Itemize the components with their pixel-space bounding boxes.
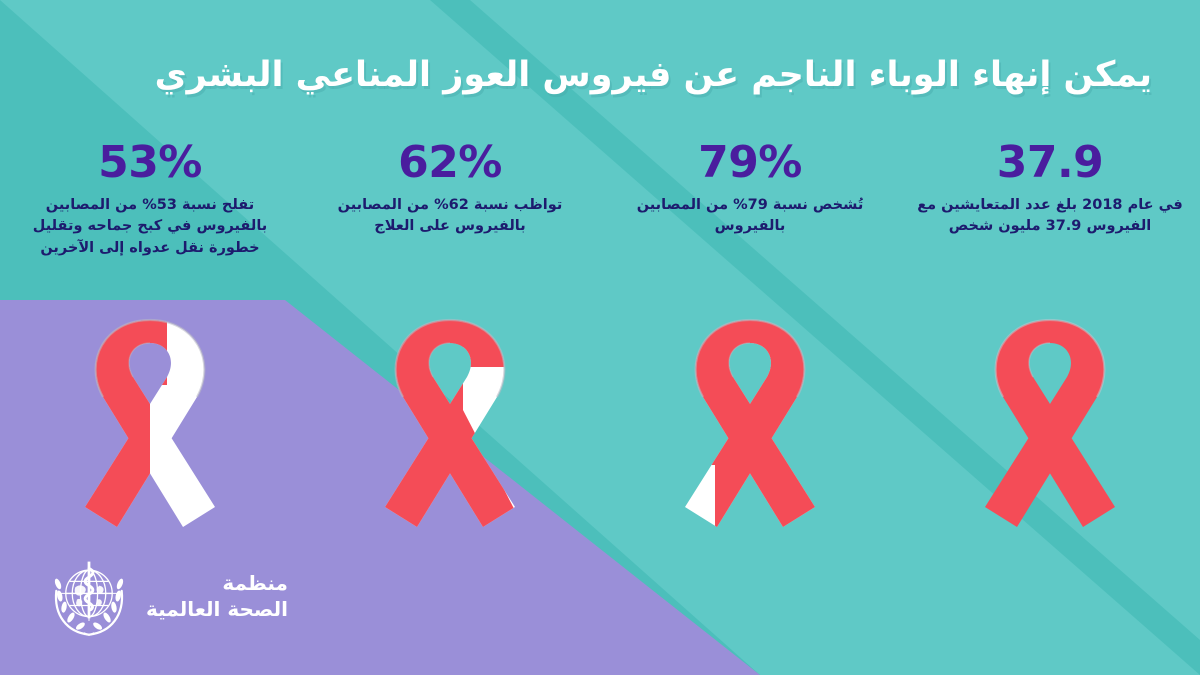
page-title: يمكن إنهاء الوباء الناجم عن فيروس العوز … xyxy=(48,52,1152,98)
who-organization-name: منظمة الصحة العالمية xyxy=(146,570,288,622)
infographic-canvas: يمكن إنهاء الوباء الناجم عن فيروس العوز … xyxy=(0,0,1200,675)
who-logo: منظمة الصحة العالمية xyxy=(46,553,288,639)
ribbon-filled-tail xyxy=(463,410,525,530)
title-container: يمكن إنهاء الوباء الناجم عن فيروس العوز … xyxy=(48,52,1152,98)
stat-value-53: 53% xyxy=(14,140,286,186)
ribbon-filled-top xyxy=(150,315,167,385)
stat-description-53: تفلح نسبة 53% من المصابين بالفيروس في كب… xyxy=(14,195,286,259)
ribbon-cell-62 xyxy=(300,315,600,530)
stat-value-79: 79% xyxy=(614,140,886,186)
stat-description-379: في عام 2018 بلغ عدد المتعايشين مع الفيرو… xyxy=(914,195,1186,238)
ribbon-cell-53 xyxy=(0,315,300,530)
ribbon-fill-group xyxy=(975,315,1125,530)
ribbon-fill-group xyxy=(75,315,225,530)
stat-block-53: 53% تفلح نسبة 53% من المصابين بالفيروس ف… xyxy=(0,140,300,259)
stat-description-79: تُشخص نسبة 79% من المصابين بالفيروس xyxy=(614,195,886,238)
wreath-base xyxy=(84,633,94,635)
ribbons-row xyxy=(0,315,1200,530)
ribbon-filled-upper xyxy=(675,315,825,465)
ribbon-fill-group xyxy=(675,315,825,530)
stat-block-62: 62% تواظب نسبة 62% من المصابين بالفيروس … xyxy=(300,140,600,259)
awareness-ribbon-total xyxy=(975,315,1125,530)
stat-value-62: 62% xyxy=(314,140,586,186)
ribbon-cell-total xyxy=(900,315,1200,530)
ribbon-filled-left xyxy=(375,315,463,530)
ribbon-fill-group xyxy=(375,315,525,530)
ribbon-filled-lower xyxy=(715,465,825,530)
stat-block-379: 37.9 في عام 2018 بلغ عدد المتعايشين مع ا… xyxy=(900,140,1200,259)
awareness-ribbon-62 xyxy=(375,315,525,530)
stat-block-79: 79% تُشخص نسبة 79% من المصابين بالفيروس xyxy=(600,140,900,259)
ribbon-cell-79 xyxy=(600,315,900,530)
stat-value-379: 37.9 xyxy=(914,140,1186,186)
ribbon-filled-left xyxy=(75,315,150,530)
awareness-ribbon-79 xyxy=(675,315,825,530)
ribbon-filled-full xyxy=(975,315,1125,530)
stats-row: 53% تفلح نسبة 53% من المصابين بالفيروس ف… xyxy=(0,140,1200,259)
awareness-ribbon-53 xyxy=(75,315,225,530)
stat-description-62: تواظب نسبة 62% من المصابين بالفيروس على … xyxy=(314,195,586,238)
who-emblem-icon xyxy=(46,553,132,639)
